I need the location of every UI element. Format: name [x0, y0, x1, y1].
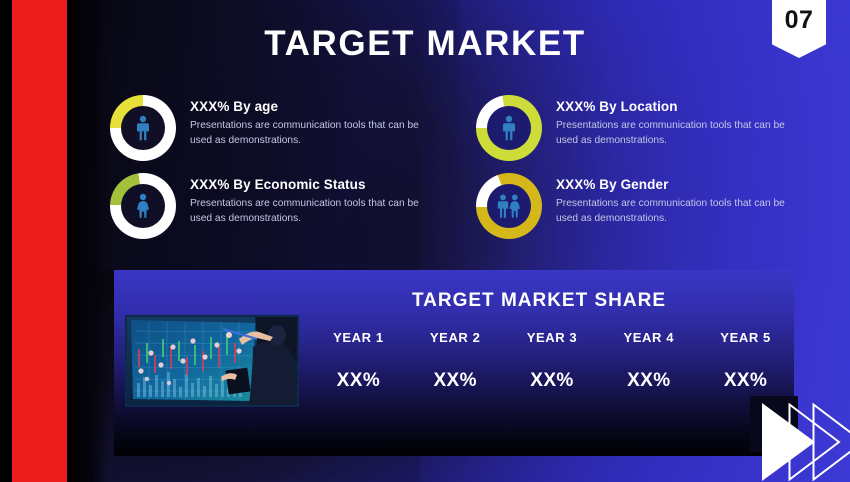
stat-description: Presentations are communication tools th… [556, 197, 796, 227]
play-arrow-decoration [762, 403, 850, 482]
page-title: TARGET MARKET [110, 26, 740, 61]
percentage-value-cell: XX% [310, 370, 407, 392]
stat-text-block: XXX% By age Presentations are communicat… [190, 93, 430, 149]
stat-text-block: XXX% By Economic Status Presentations ar… [190, 171, 430, 227]
percentage-value-row: XX% XX% XX% XX% XX% [310, 370, 794, 392]
year-header-cell: YEAR 2 [407, 330, 504, 345]
donut-center [487, 184, 531, 228]
stat-title: XXX% By Gender [556, 177, 796, 192]
donut-center [121, 106, 165, 150]
stats-grid: XXX% By age Presentations are communicat… [110, 93, 810, 253]
stat-text-block: XXX% By Location Presentations are commu… [556, 93, 796, 149]
stat-text-block: XXX% By Gender Presentations are communi… [556, 171, 796, 227]
slide-canvas: 07 TARGET MARKET XXX% By age Presentatio [0, 0, 850, 482]
stat-item-by-gender: XXX% By Gender Presentations are communi… [476, 171, 816, 239]
donut-chart-by-location [476, 95, 542, 161]
year-header-cell: YEAR 5 [697, 330, 794, 345]
play-arrow-outline-icon [812, 403, 850, 481]
percentage-value-cell: XX% [600, 370, 697, 392]
market-photo-thumbnail [125, 315, 299, 407]
stat-item-by-economic-status: XXX% By Economic Status Presentations ar… [110, 171, 450, 239]
stat-description: Presentations are communication tools th… [556, 119, 796, 149]
stat-title: XXX% By Location [556, 99, 796, 114]
donut-center [121, 184, 165, 228]
couple-figure-icon [495, 193, 523, 219]
stat-item-by-age: XXX% By age Presentations are communicat… [110, 93, 450, 161]
male-figure-icon [499, 115, 519, 141]
male-figure-icon [133, 115, 153, 141]
percentage-value-cell: XX% [697, 370, 794, 392]
stat-title: XXX% By age [190, 99, 430, 114]
page-number-label: 07 [785, 8, 814, 33]
year-header-cell: YEAR 1 [310, 330, 407, 345]
donut-chart-by-age [110, 95, 176, 161]
female-figure-icon [133, 193, 153, 219]
left-red-stripe [12, 0, 67, 482]
left-black-stripe [0, 0, 12, 482]
donut-chart-by-economic-status [110, 173, 176, 239]
target-market-share-panel: TARGET MARKET SHARE [114, 270, 794, 456]
stat-title: XXX% By Economic Status [190, 177, 430, 192]
stat-description: Presentations are communication tools th… [190, 197, 430, 227]
stat-item-by-location: XXX% By Location Presentations are commu… [476, 93, 816, 161]
stat-description: Presentations are communication tools th… [190, 119, 430, 149]
percentage-value-cell: XX% [407, 370, 504, 392]
percentage-value-cell: XX% [504, 370, 601, 392]
share-panel-title: TARGET MARKET SHARE [284, 290, 794, 312]
year-header-cell: YEAR 4 [600, 330, 697, 345]
year-header-row: YEAR 1 YEAR 2 YEAR 3 YEAR 4 YEAR 5 [310, 330, 794, 345]
year-header-cell: YEAR 3 [504, 330, 601, 345]
donut-center [487, 106, 531, 150]
left-inner-black-stripe [67, 0, 109, 482]
donut-chart-by-gender [476, 173, 542, 239]
